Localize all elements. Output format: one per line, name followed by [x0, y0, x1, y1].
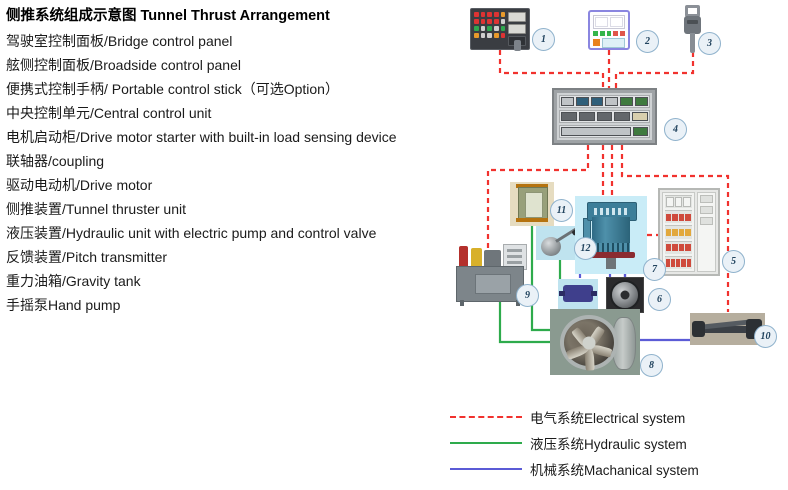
panel-key: [481, 26, 486, 31]
callout-badge-11: 11: [550, 199, 573, 222]
bridge-control-panel[interactable]: [470, 8, 530, 50]
motor-shaft: [606, 258, 616, 269]
thruster-duct: [560, 315, 618, 370]
broadside-control-panel[interactable]: [588, 10, 630, 50]
control-unit-interior: [557, 93, 652, 140]
control-module: [576, 97, 589, 106]
panel-key: [474, 19, 479, 24]
valve-rail: [507, 255, 522, 258]
central-control-unit[interactable]: [552, 88, 657, 145]
transmitter-end-left: [692, 321, 705, 337]
panel-key: [494, 19, 499, 24]
panel-key: [487, 33, 492, 38]
starter-rail: [665, 225, 692, 238]
callout-badge-9: 9: [516, 284, 539, 307]
drive-motor-starter[interactable]: [658, 188, 720, 276]
panel-display: [508, 12, 526, 22]
propeller-hub: [583, 336, 596, 349]
control-module: [614, 112, 630, 121]
coupling[interactable]: [606, 277, 644, 313]
part-label-6: 联轴器/coupling: [6, 149, 456, 173]
hydraulic-filter-yellow: [471, 248, 482, 268]
panel-key: [487, 12, 492, 17]
panel-key: [501, 19, 506, 24]
panel-key: [494, 26, 499, 31]
panel-key: [494, 33, 499, 38]
callout-badge-2: 2: [636, 30, 659, 53]
tank-body: [518, 187, 548, 221]
callout-badge-1: 1: [532, 28, 555, 51]
part-label-2: 舷侧控制面板/Broadside control panel: [6, 53, 456, 77]
panel-key: [501, 33, 506, 38]
legend-row-electrical: 电气系统Electrical system: [450, 404, 788, 430]
drive-motor[interactable]: [575, 196, 647, 274]
part-label-10: 反馈装置/Pitch transmitter: [6, 245, 456, 269]
indicator-lamp: [607, 31, 612, 36]
control-module: [620, 97, 633, 106]
control-module: [632, 112, 648, 121]
panel-key: [474, 12, 479, 17]
part-label-4: 中央控制单元/Central control unit: [6, 101, 456, 125]
callout-badge-4: 4: [664, 118, 687, 141]
gravity-tank[interactable]: [510, 182, 554, 226]
legend-label-mechanical: 机械系统Machanical system: [530, 459, 699, 479]
electrical-line-swatch: [450, 416, 522, 418]
system-schematic: 1 2 3: [440, 0, 788, 400]
starter-rail: [665, 241, 692, 254]
indicator-lamp: [620, 31, 625, 36]
panel-display: [508, 24, 526, 34]
indicator-lamp: [613, 31, 618, 36]
control-unit-terminal-strip: [559, 125, 650, 138]
control-stick-body: [684, 16, 701, 34]
breaker-row: [700, 217, 713, 225]
broadside-panel-screens: [593, 15, 625, 29]
legend-row-hydraulic: 液压系统Hydraulic system: [450, 430, 788, 456]
hydraulic-filter-red: [459, 246, 468, 268]
control-module: [597, 112, 613, 121]
control-module: [579, 112, 595, 121]
callout-badge-10: 10: [754, 325, 777, 348]
part-label-8: 侧推装置/Tunnel thruster unit: [6, 197, 456, 221]
callout-badge-7: 7: [643, 258, 666, 281]
callout-badge-3: 3: [698, 32, 721, 55]
control-module: [561, 97, 574, 106]
gearbox-shaft: [591, 291, 597, 296]
part-label-7: 驱动电动机/Drive motor: [6, 173, 456, 197]
panel-key: [481, 19, 486, 24]
panel-key: [481, 12, 486, 17]
control-module: [635, 97, 648, 106]
indicator-lamp: [600, 31, 605, 36]
panel-key: [494, 12, 499, 17]
part-label-3: 便携式控制手柄/ Portable control stick（可选Option…: [6, 77, 456, 101]
control-unit-shelf: [559, 95, 650, 108]
coupling-disc: [610, 280, 640, 310]
starter-rail: [665, 210, 692, 223]
starter-rail: [665, 256, 692, 269]
broadside-panel-bottom-row: [593, 38, 625, 47]
part-label-11: 重力油箱/Gravity tank: [6, 269, 456, 293]
panel-key: [501, 12, 506, 17]
panel-key: [487, 19, 492, 24]
tunnel-thruster-unit[interactable]: [550, 309, 640, 375]
broadside-lcd: [602, 38, 625, 48]
control-module: [591, 97, 604, 106]
motor-cooling-fins: [592, 243, 630, 252]
legend-label-hydraulic: 液压系统Hydraulic system: [530, 433, 687, 453]
panel-key: [501, 26, 506, 31]
diagram-page: 侧推系统组成示意图 Tunnel Thrust Arrangement 驾驶室控…: [0, 0, 788, 490]
control-module: [561, 112, 577, 121]
control-stick-cord: [690, 33, 695, 53]
panel-key: [487, 26, 492, 31]
legend-row-mechanical: 机械系统Machanical system: [450, 456, 788, 482]
callout-badge-8: 8: [640, 354, 663, 377]
broadside-stop-button[interactable]: [593, 39, 600, 46]
legend-label-electrical: 电气系统Electrical system: [530, 407, 685, 427]
page-title: 侧推系统组成示意图 Tunnel Thrust Arrangement: [6, 6, 456, 26]
parts-legend-list: 侧推系统组成示意图 Tunnel Thrust Arrangement 驾驶室控…: [6, 6, 456, 317]
mechanical-line-swatch: [450, 468, 522, 470]
callout-badge-5: 5: [722, 250, 745, 273]
panel-joystick[interactable]: [508, 36, 526, 46]
valve-rail: [507, 261, 522, 264]
breaker-row: [700, 206, 713, 214]
bridge-panel-display-column: [508, 12, 526, 46]
gearbox-shaft: [559, 291, 565, 296]
part-label-1: 驾驶室控制面板/Bridge control panel: [6, 29, 456, 53]
unit-leg: [460, 300, 464, 306]
callout-badge-12: 12: [574, 237, 597, 260]
panel-key: [481, 33, 486, 38]
breaker-row: [700, 195, 713, 203]
system-type-legend: 电气系统Electrical system 液压系统Hydraulic syst…: [450, 404, 788, 482]
terminal-block: [561, 127, 631, 136]
starter-side-bay: [697, 192, 716, 272]
bridge-panel-button-grid: [474, 12, 505, 46]
gearbox-body: [563, 285, 593, 302]
valve-rail: [507, 249, 522, 252]
indicator-lamp: [593, 31, 598, 36]
panel-key: [474, 26, 479, 31]
part-label-5: 电机启动柜/Drive motor starter with built-in …: [6, 125, 456, 149]
part-label-12: 手摇泵Hand pump: [6, 293, 456, 317]
control-unit-shelf: [559, 110, 650, 123]
part-label-9: 液压装置/Hydraulic unit with electric pump a…: [6, 221, 456, 245]
callout-badge-6: 6: [648, 288, 671, 311]
broadside-panel-indicators: [593, 31, 625, 36]
panel-key: [474, 33, 479, 38]
starter-rail: [665, 195, 692, 208]
tank-bottom-flange: [516, 218, 548, 222]
starter-main-bay: [662, 192, 695, 272]
control-module: [605, 97, 618, 106]
hydraulic-reservoir: [456, 266, 524, 302]
gearbox-unit: [558, 279, 598, 309]
terminal-block: [633, 127, 649, 136]
hydraulic-line-swatch: [450, 442, 522, 444]
